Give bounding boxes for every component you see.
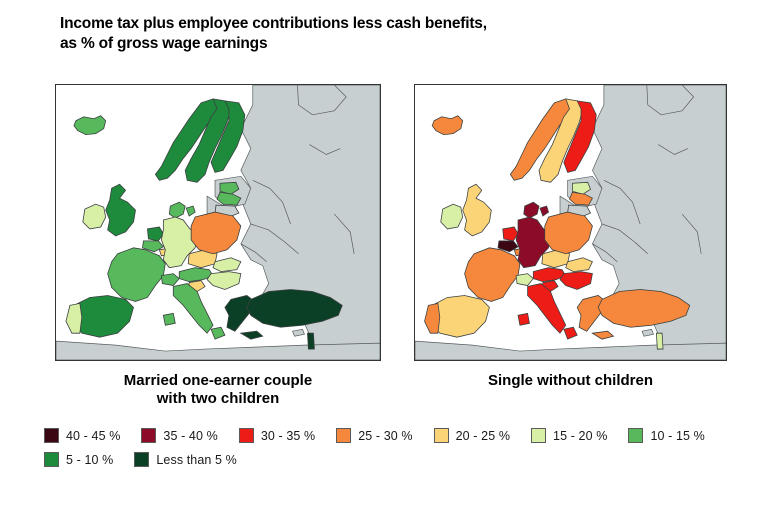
legend-item-25-30: 25 - 30 %: [336, 428, 412, 443]
legend-item-10-15: 10 - 15 %: [628, 428, 704, 443]
title-line-2: as % of gross wage earnings: [60, 34, 740, 54]
legend-swatch-icon: [434, 428, 449, 443]
legend-row-2: 5 - 10 % Less than 5 %: [44, 452, 750, 467]
legend: 40 - 45 % 35 - 40 % 30 - 35 % 25 - 30 % …: [44, 428, 750, 476]
map-single-without-children: [414, 84, 727, 361]
legend-swatch-icon: [44, 428, 59, 443]
legend-item-40-45: 40 - 45 %: [44, 428, 120, 443]
caption-map-right: Single without children: [414, 372, 727, 390]
legend-item-35-40: 35 - 40 %: [141, 428, 217, 443]
caption-left-line-2: with two children: [55, 390, 381, 408]
map-married-one-earner-couple: [55, 84, 381, 361]
legend-item-5-10: 5 - 10 %: [44, 452, 113, 467]
legend-swatch-icon: [44, 452, 59, 467]
legend-item-less-than-5: Less than 5 %: [134, 452, 237, 467]
page-title: Income tax plus employee contributions l…: [60, 14, 740, 54]
legend-swatch-icon: [239, 428, 254, 443]
legend-label: 35 - 40 %: [163, 429, 217, 443]
legend-swatch-icon: [628, 428, 643, 443]
legend-label: 40 - 45 %: [66, 429, 120, 443]
legend-label: 20 - 25 %: [456, 429, 510, 443]
legend-swatch-icon: [141, 428, 156, 443]
caption-right-line-1: Single without children: [414, 372, 727, 390]
caption-left-line-1: Married one-earner couple: [55, 372, 381, 390]
legend-label: 15 - 20 %: [553, 429, 607, 443]
legend-item-15-20: 15 - 20 %: [531, 428, 607, 443]
legend-label: 10 - 15 %: [650, 429, 704, 443]
caption-map-left: Married one-earner couple with two child…: [55, 372, 381, 409]
title-line-1: Income tax plus employee contributions l…: [60, 14, 740, 34]
legend-label: 5 - 10 %: [66, 453, 113, 467]
legend-row-1: 40 - 45 % 35 - 40 % 30 - 35 % 25 - 30 % …: [44, 428, 750, 443]
legend-swatch-icon: [336, 428, 351, 443]
legend-item-20-25: 20 - 25 %: [434, 428, 510, 443]
legend-label: 30 - 35 %: [261, 429, 315, 443]
legend-swatch-icon: [531, 428, 546, 443]
legend-swatch-icon: [134, 452, 149, 467]
map-svg-left: [56, 85, 380, 360]
map-svg-right: [415, 85, 726, 360]
legend-label: Less than 5 %: [156, 453, 237, 467]
legend-label: 25 - 30 %: [358, 429, 412, 443]
legend-item-30-35: 30 - 35 %: [239, 428, 315, 443]
